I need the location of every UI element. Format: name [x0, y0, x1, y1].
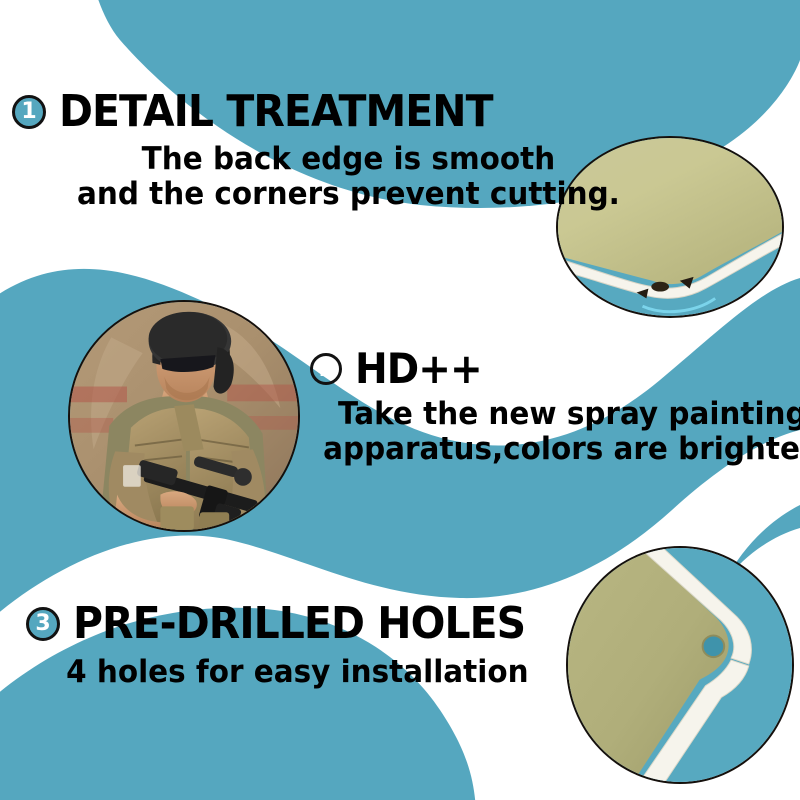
feature-3-subtext-line-1: 4 holes for easy installation: [49, 655, 546, 690]
feature-2-subtext-line-2: apparatus,colors are brighter.: [323, 432, 800, 467]
infographic-page: 1 DETAIL TREATMENT The back edge is smoo…: [0, 0, 800, 800]
feature-1-subtext: The back edge is smooth and the corners …: [28, 142, 620, 211]
feature-1-subtext-line-1: The back edge is smooth: [77, 142, 620, 177]
feature-block-3: 3 PRE-DRILLED HOLES 4 holes for easy ins…: [26, 602, 559, 690]
feature-1-subtext-line-2: and the corners prevent cutting.: [77, 177, 620, 212]
drilled-hole-illustration: [568, 548, 792, 782]
feature-2-subtext: Take the new spray painting apparatus,co…: [323, 397, 800, 466]
feature-2-heading: HD++: [355, 348, 482, 390]
mounting-hole: [651, 282, 669, 292]
step-badge-2: 2: [310, 353, 342, 385]
step-badge-1: 1: [12, 95, 46, 129]
soldier-illustration: [70, 302, 298, 530]
feature-block-2: 2 HD++ Take the new spray painting appar…: [310, 348, 800, 466]
pre-drilled-hole-corner-photo: [566, 546, 794, 784]
step-badge-3: 3: [26, 607, 60, 641]
feature-2-heading-row: 2 HD++: [310, 348, 800, 390]
feature-1-heading: DETAIL TREATMENT: [59, 90, 493, 134]
feature-2-subtext-line-1: Take the new spray painting: [323, 397, 800, 432]
feature-1-heading-row: 1 DETAIL TREATMENT: [12, 90, 635, 134]
feature-3-heading-row: 3 PRE-DRILLED HOLES: [26, 602, 559, 646]
feature-3-heading: PRE-DRILLED HOLES: [73, 602, 525, 646]
soldier-artwork-photo: [68, 300, 300, 532]
feature-block-1: 1 DETAIL TREATMENT The back edge is smoo…: [12, 90, 635, 211]
feature-3-subtext: 4 holes for easy installation: [39, 655, 546, 690]
